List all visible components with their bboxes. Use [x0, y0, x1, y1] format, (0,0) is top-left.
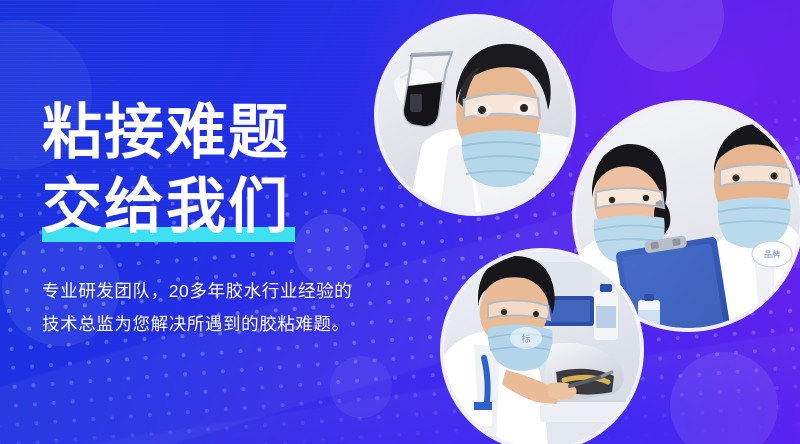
headline-block: 粘接难题 交给我们: [42, 96, 290, 244]
svg-text:品牌: 品牌: [764, 249, 780, 259]
svg-text:标: 标: [521, 333, 530, 344]
lab-researcher-illustration: [378, 18, 572, 212]
subtitle-line-1: 专业研发团队，20多年胶水行业经验的: [42, 275, 352, 308]
headline-line-1-text: 粘接难题: [42, 99, 290, 166]
promo-banner: 粘接难题 交给我们 专业研发团队，20多年胶水行业经验的 技术总监为您解决所遇到…: [0, 0, 800, 444]
photo-lab-researcher: [378, 18, 572, 212]
headline-line-2-text: 交给我们: [42, 173, 290, 240]
headline-line-2: 交给我们: [42, 170, 290, 244]
decorative-circle-6: [330, 356, 392, 418]
subtitle-block: 专业研发团队，20多年胶水行业经验的 技术总监为您解决所遇到的胶粘难题。: [42, 275, 352, 341]
headline-line-1: 粘接难题: [42, 96, 290, 170]
bonding-work-illustration: 标: [444, 252, 640, 444]
photo-bonding-work: 标: [444, 252, 640, 444]
subtitle-line-2: 技术总监为您解决所遇到的胶粘难题。: [42, 308, 352, 341]
